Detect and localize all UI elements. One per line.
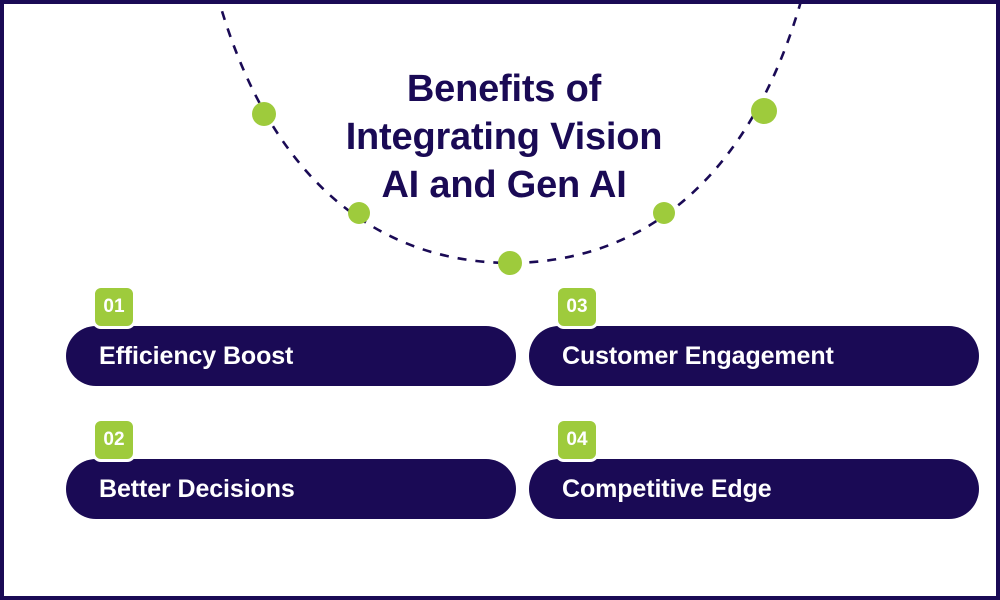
- benefit-item-01[interactable]: 01 Efficiency Boost: [66, 285, 516, 396]
- page-title-line-2: Integrating Vision: [4, 113, 1000, 161]
- arc-dot-3: [498, 251, 522, 275]
- benefit-bar-03[interactable]: Customer Engagement: [529, 326, 979, 386]
- infographic-canvas: Benefits of Integrating Vision AI and Ge…: [0, 0, 1000, 600]
- benefit-label-02: Better Decisions: [99, 475, 295, 504]
- benefit-item-03[interactable]: 03 Customer Engagement: [529, 285, 979, 396]
- benefit-item-04[interactable]: 04 Competitive Edge: [529, 418, 979, 529]
- benefit-label-03: Customer Engagement: [562, 342, 834, 371]
- page-title: Benefits of Integrating Vision AI and Ge…: [4, 65, 1000, 209]
- benefit-number-badge-01: 01: [92, 285, 136, 329]
- benefit-bar-01[interactable]: Efficiency Boost: [66, 326, 516, 386]
- benefits-row-2: 02 Better Decisions 04 Competitive Edge: [66, 418, 979, 529]
- benefit-label-01: Efficiency Boost: [99, 342, 293, 371]
- page-title-line-1: Benefits of: [4, 65, 1000, 113]
- benefit-bar-02[interactable]: Better Decisions: [66, 459, 516, 519]
- benefit-number-badge-03: 03: [555, 285, 599, 329]
- page-title-line-3: AI and Gen AI: [4, 161, 1000, 209]
- benefits-list: 01 Efficiency Boost 03 Customer Engageme…: [66, 285, 979, 529]
- benefit-label-04: Competitive Edge: [562, 475, 772, 504]
- benefits-row-1: 01 Efficiency Boost 03 Customer Engageme…: [66, 285, 979, 396]
- benefit-item-02[interactable]: 02 Better Decisions: [66, 418, 516, 529]
- benefit-number-badge-04: 04: [555, 418, 599, 462]
- benefit-bar-04[interactable]: Competitive Edge: [529, 459, 979, 519]
- benefit-number-badge-02: 02: [92, 418, 136, 462]
